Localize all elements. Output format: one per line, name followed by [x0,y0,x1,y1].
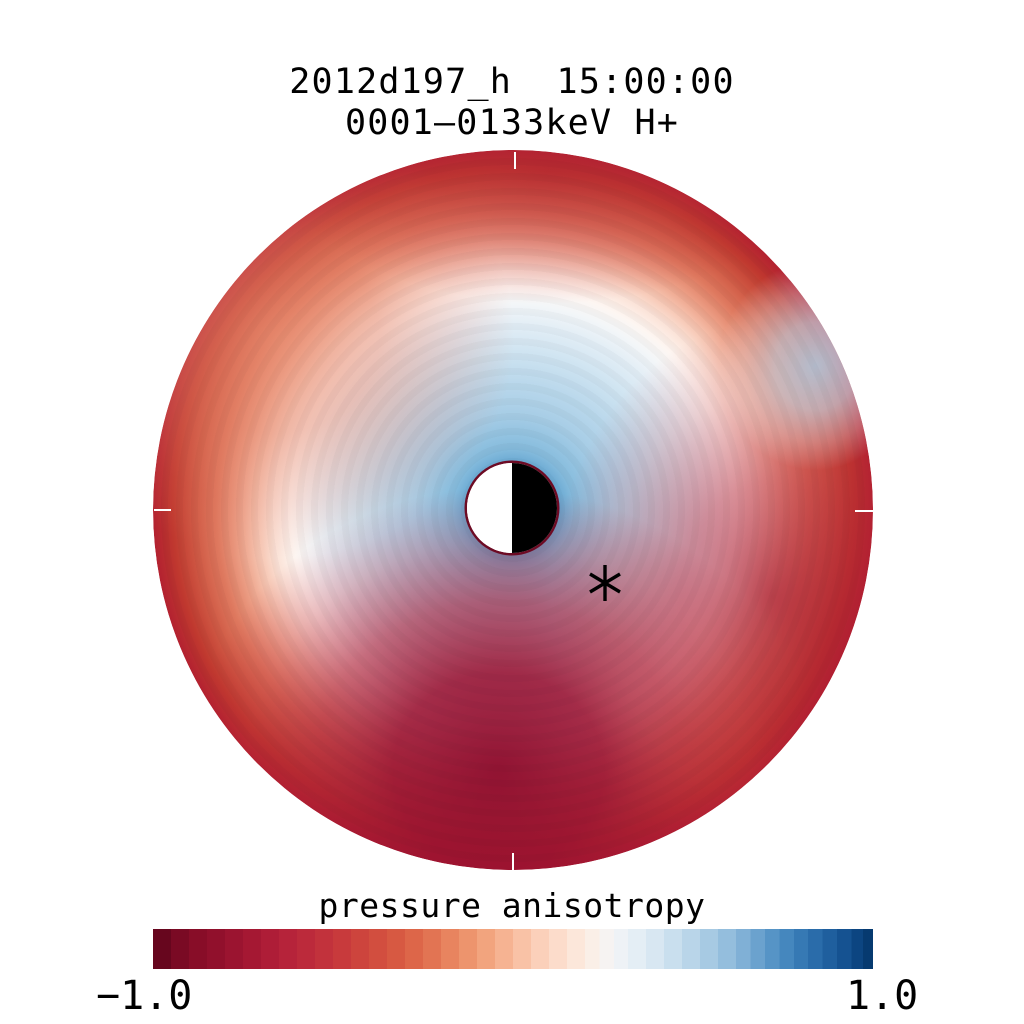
rim-tick-right [855,510,873,512]
earth-dayside-half [467,463,512,553]
earth-nightside-half [512,463,557,553]
rim-tick-top [514,152,516,169]
spacecraft-asterisk-icon [586,563,624,603]
colorbar-gradient [153,929,873,969]
colorbar-title: pressure anisotropy [0,886,1024,925]
colorbar-max-label: 1.0 [846,973,918,1019]
colorbar-block: pressure anisotropy −1.0 1.0 [0,886,1024,1024]
colorbar-min-label: −1.0 [96,973,192,1019]
earth-icon [467,463,557,553]
rim-tick-left [154,509,171,511]
rim-tick-bottom [512,853,514,870]
polar-plot-area [0,0,1024,1024]
